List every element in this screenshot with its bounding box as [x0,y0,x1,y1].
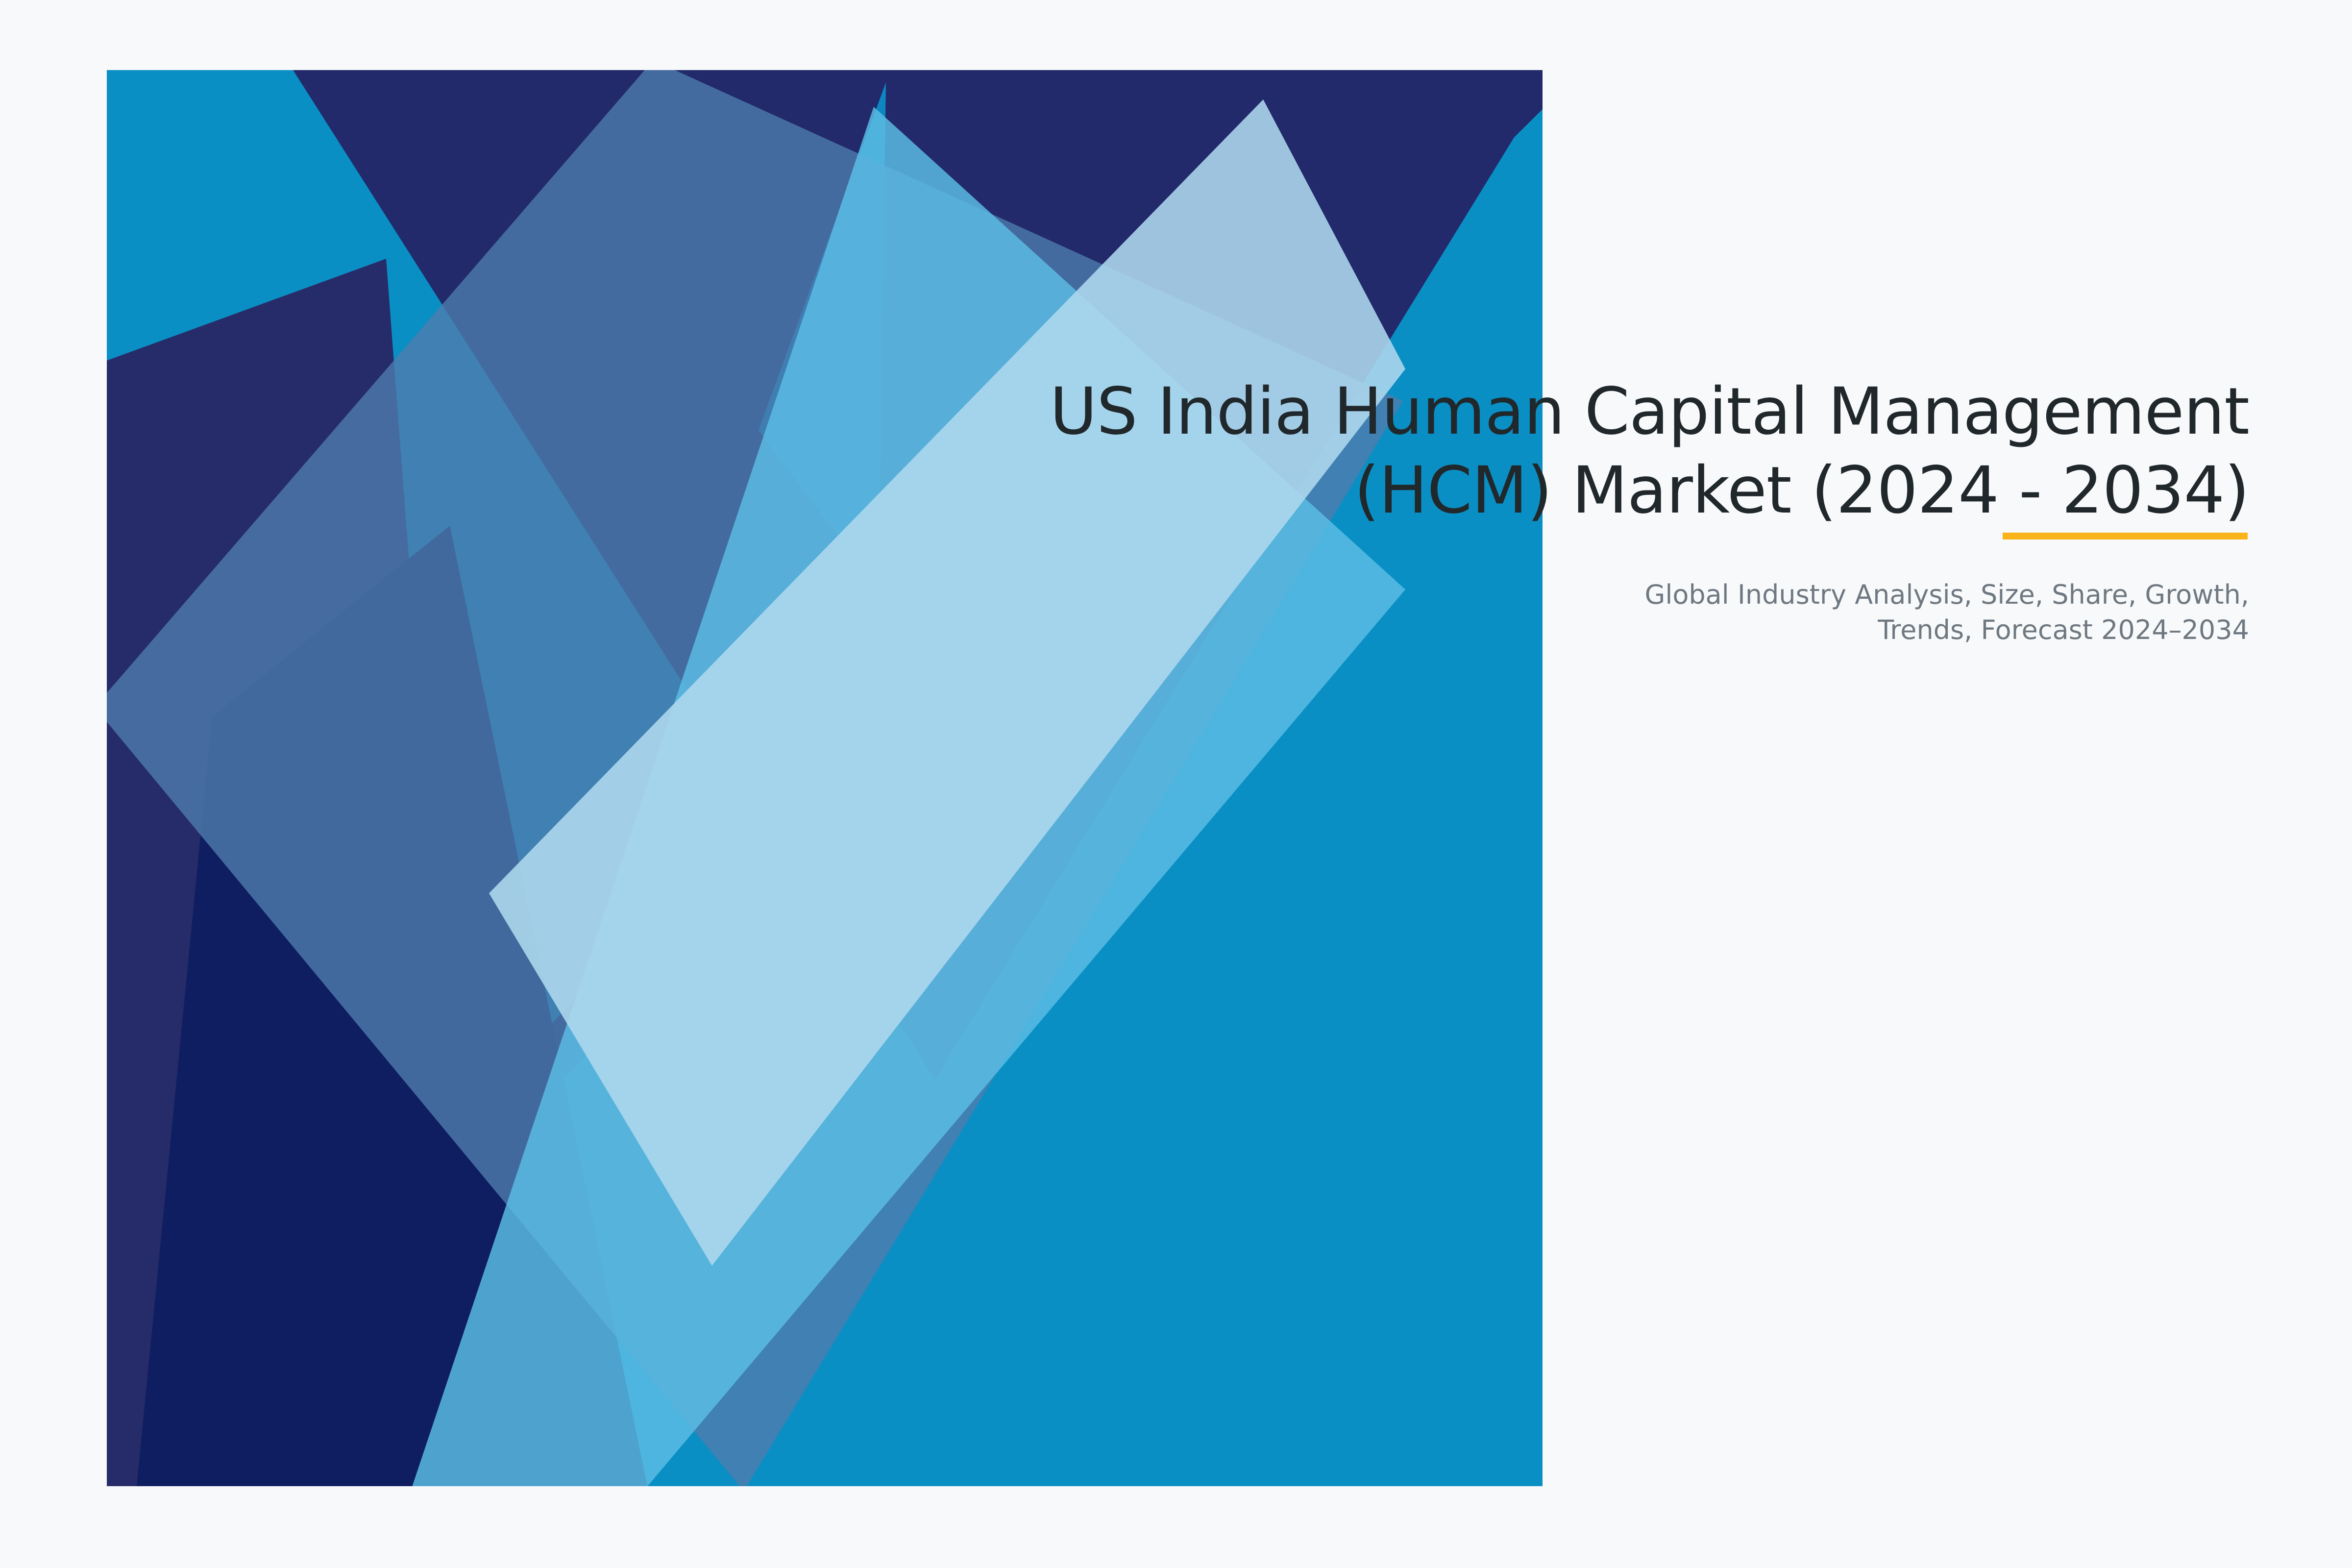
page-subtitle: Global Industry Analysis, Size, Share, G… [1632,530,2249,648]
report-cover-page: US India Human Capital Management (HCM) … [0,0,2352,1568]
abstract-geometric-cover-art [107,70,1543,1486]
page-title-line-2: (HCM) Market (2024 - 2034) [1354,453,2249,528]
page-title: US India Human Capital Management (HCM) … [779,372,2249,530]
page-title-line-1: US India Human Capital Management [1050,374,2249,449]
highlight-underline [2003,533,2248,539]
cover-text-block: US India Human Capital Management (HCM) … [779,372,2249,648]
